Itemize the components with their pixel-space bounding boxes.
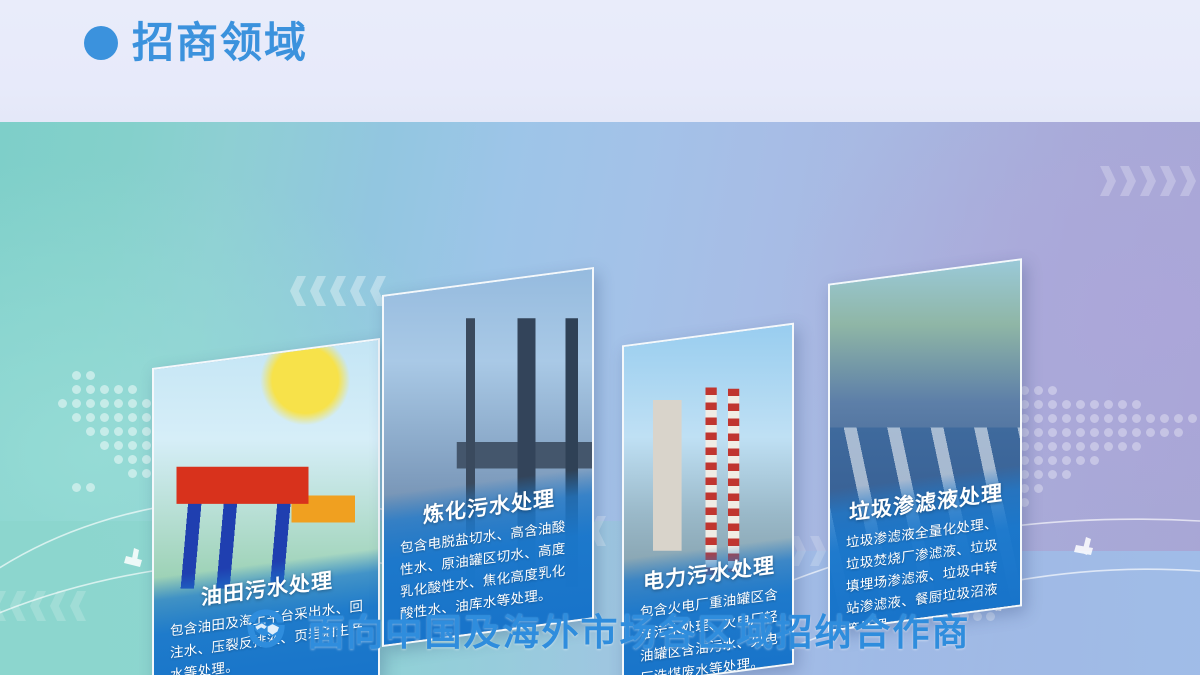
slide-root: 招商领域 — [0, 0, 1200, 675]
page-title: 招商领域 — [132, 22, 308, 64]
header-inner: 招商领域 — [84, 22, 308, 64]
card-leachate[interactable]: 垃圾渗滤液处理 垃圾渗滤液全量化处理、垃圾焚烧厂渗滤液、垃圾填埋场渗滤液、垃圾中… — [828, 258, 1022, 632]
slide-header: 招商领域 — [0, 0, 1200, 122]
handshake-icon — [240, 603, 292, 655]
bottom-banner: 面向中国及海外市场各区域招纳合作商 — [0, 583, 1200, 675]
circle-bullet-icon — [84, 26, 118, 60]
banner-text: 面向中国及海外市场各区域招纳合作商 — [308, 602, 971, 656]
